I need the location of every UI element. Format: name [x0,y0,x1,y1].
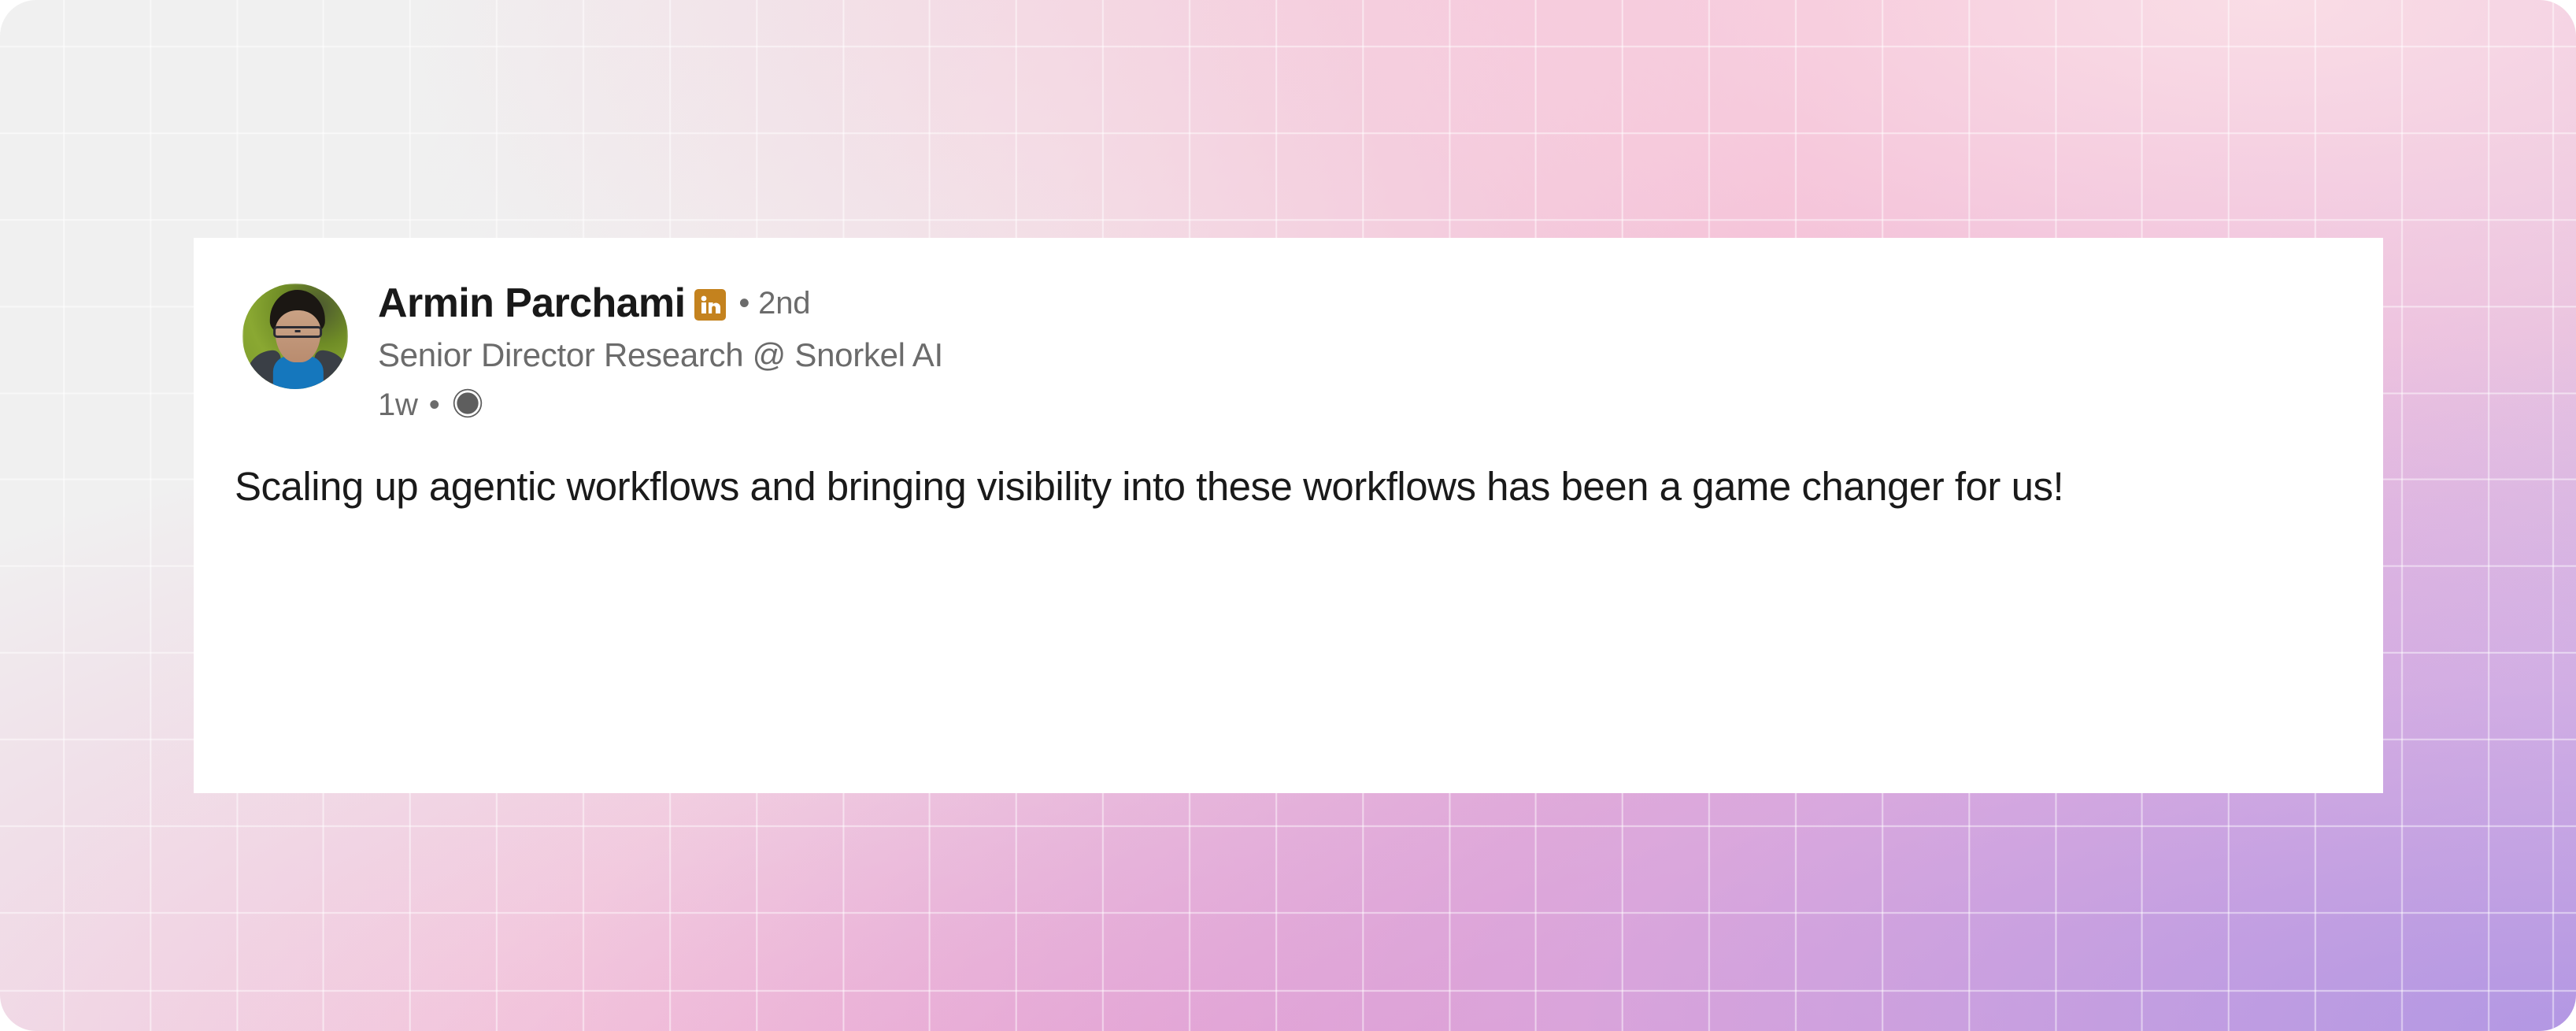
author-headline: Senior Director Research @ Snorkel AI [378,336,943,374]
post-body-text: Scaling up agentic workflows and bringin… [235,460,2334,514]
author-name[interactable]: Armin Parchami [378,282,685,325]
post-timestamp: 1w [378,388,418,423]
linkedin-post-card: Armin Parchami • 2nd Senior Director Res… [194,238,2383,793]
post-meta-row: 1w • [378,387,943,424]
name-separator: • [738,286,749,321]
post-header: Armin Parchami • 2nd Senior Director Res… [242,280,2334,424]
avatar-glasses [273,326,322,338]
header-text-column: Armin Parchami • 2nd Senior Director Res… [378,280,943,424]
linkedin-badge-icon [694,289,726,321]
avatar[interactable] [242,284,348,389]
globe-icon [451,387,484,424]
degree-value: 2nd [758,286,810,321]
gradient-canvas: Armin Parchami • 2nd Senior Director Res… [0,0,2576,1031]
connection-degree: • 2nd [738,286,810,321]
meta-separator: • [429,389,440,421]
author-name-row: Armin Parchami • 2nd [378,282,943,325]
